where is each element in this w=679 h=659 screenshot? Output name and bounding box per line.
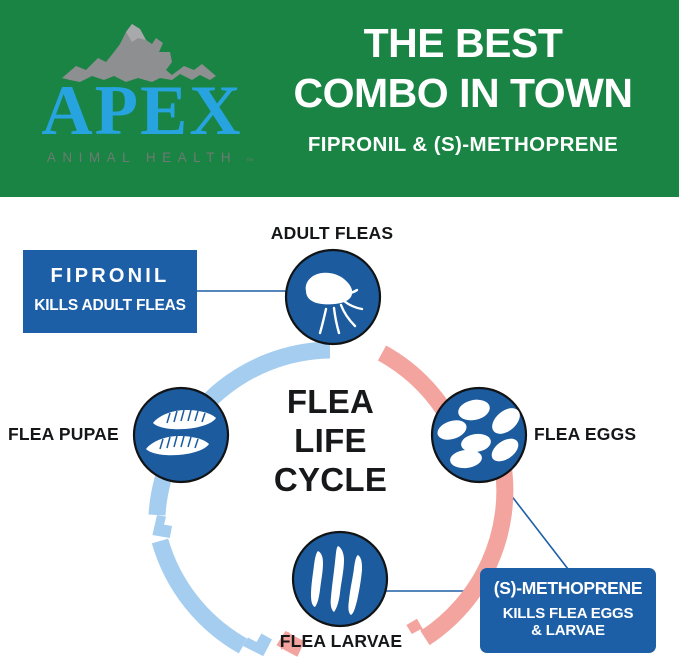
node-flea-eggs[interactable] <box>432 388 526 482</box>
callout-fipronil-subtitle: KILLS ADULT FLEAS <box>23 297 197 314</box>
callout-methoprene-subtitle-line1: KILLS FLEA EGGS <box>480 605 656 623</box>
brand-logo: APEX ANIMAL HEALTH ™ <box>18 22 266 174</box>
logo-wordmark: APEX <box>18 76 266 147</box>
node-label-flea-pupae: FLEA PUPAE <box>8 424 119 445</box>
header-title-line2: COMBO IN TOWN <box>258 68 668 118</box>
callout-methoprene-subtitle-line2: & LARVAE <box>480 622 656 640</box>
node-label-adult-fleas: ADULT FLEAS <box>262 223 402 244</box>
callout-methoprene-subtitle: KILLS FLEA EGGS & LARVAE <box>480 605 656 640</box>
node-flea-larvae[interactable] <box>293 532 387 626</box>
node-label-flea-larvae: FLEA LARVAE <box>266 631 416 652</box>
header-title-line1: THE BEST <box>258 18 668 68</box>
callout-fipronil-title: FIPRONIL <box>23 266 197 286</box>
callout-methoprene[interactable]: (S)-METHOPRENE KILLS FLEA EGGS & LARVAE <box>480 568 656 653</box>
center-title-line2: LIFE CYCLE <box>233 422 428 500</box>
infographic-page: APEX ANIMAL HEALTH ™ THE BEST COMBO IN T… <box>0 0 679 659</box>
header-title-block: THE BEST COMBO IN TOWN FIPRONIL & (S)-ME… <box>258 18 668 157</box>
center-title-line1: FLEA <box>233 383 428 422</box>
callout-methoprene-title: (S)-METHOPRENE <box>480 580 656 598</box>
flea-life-cycle-diagram: FLEA LIFE CYCLE ADULT FLEAS FLEA EGGS FL… <box>0 197 679 659</box>
node-label-flea-eggs: FLEA EGGS <box>534 424 636 445</box>
callout-fipronil[interactable]: FIPRONIL KILLS ADULT FLEAS <box>23 250 197 333</box>
trademark-symbol: ™ <box>246 158 253 165</box>
diagram-center-title: FLEA LIFE CYCLE <box>233 383 428 500</box>
logo-tagline: ANIMAL HEALTH <box>18 150 266 165</box>
header-subtitle: FIPRONIL & (S)-METHOPRENE <box>258 133 668 157</box>
node-adult-fleas[interactable] <box>286 250 380 344</box>
header-banner: APEX ANIMAL HEALTH ™ THE BEST COMBO IN T… <box>0 0 679 197</box>
node-flea-pupae[interactable] <box>134 388 228 482</box>
